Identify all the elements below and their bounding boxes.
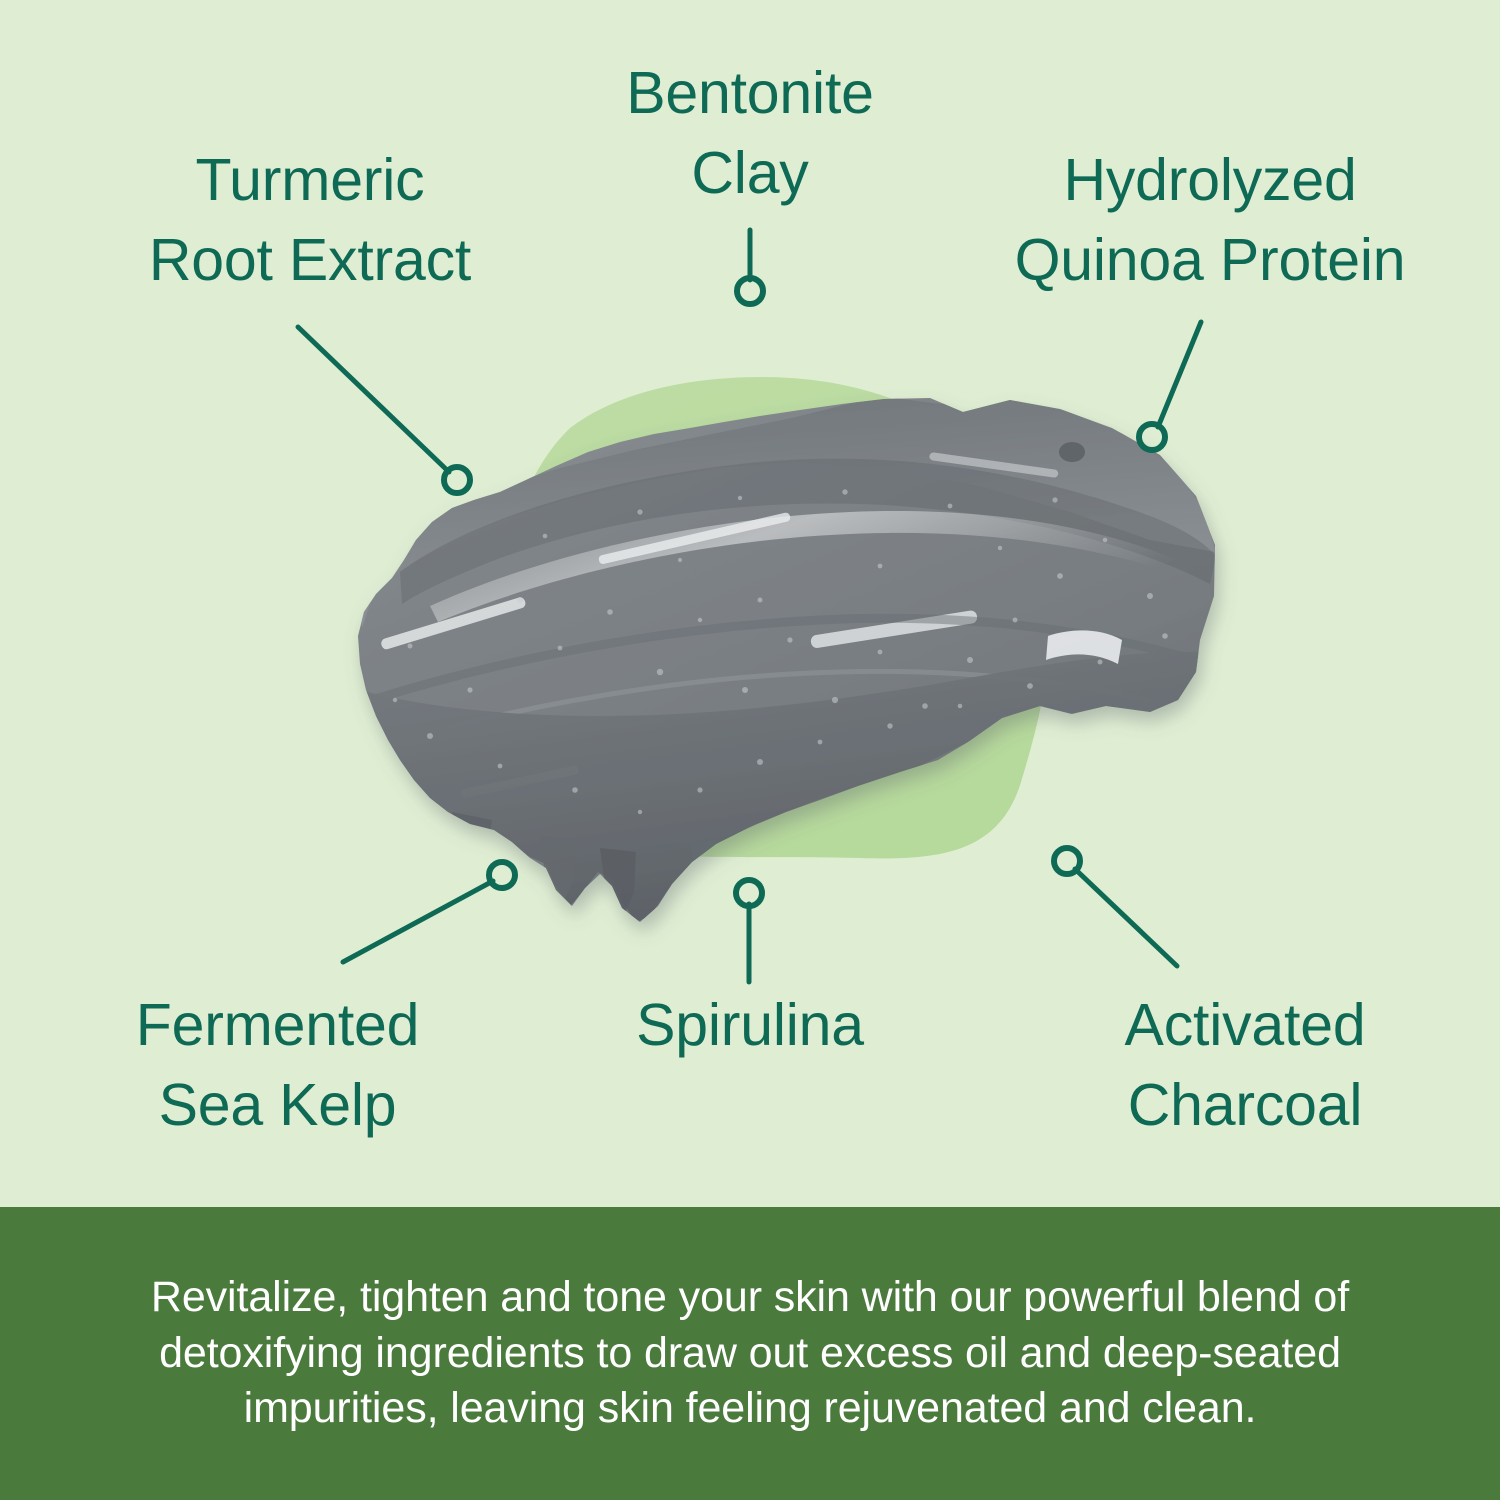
infographic-panel: Turmeric Root Extract Bentonite Clay Hyd… <box>0 0 1500 1207</box>
clay-air-hole <box>1059 442 1085 462</box>
ingredient-label-spirulina: Spirulina <box>540 985 960 1065</box>
ingredient-label-activated-charcoal: Activated Charcoal <box>1000 985 1490 1145</box>
ingredient-label-bentonite-clay: Bentonite Clay <box>505 53 995 213</box>
clay-drip-1 <box>452 812 492 878</box>
ingredient-label-turmeric-root-extract: Turmeric Root Extract <box>40 140 580 300</box>
product-ingredient-infographic: Turmeric Root Extract Bentonite Clay Hyd… <box>0 0 1500 1500</box>
description-banner-text: Revitalize, tighten and tone your skin w… <box>90 1270 1410 1438</box>
description-banner: Revitalize, tighten and tone your skin w… <box>0 1207 1500 1500</box>
ingredient-label-hydrolyzed-quinoa-protein: Hydrolyzed Quinoa Protein <box>930 140 1490 300</box>
ingredient-label-fermented-sea-kelp: Fermented Sea Kelp <box>20 985 535 1145</box>
